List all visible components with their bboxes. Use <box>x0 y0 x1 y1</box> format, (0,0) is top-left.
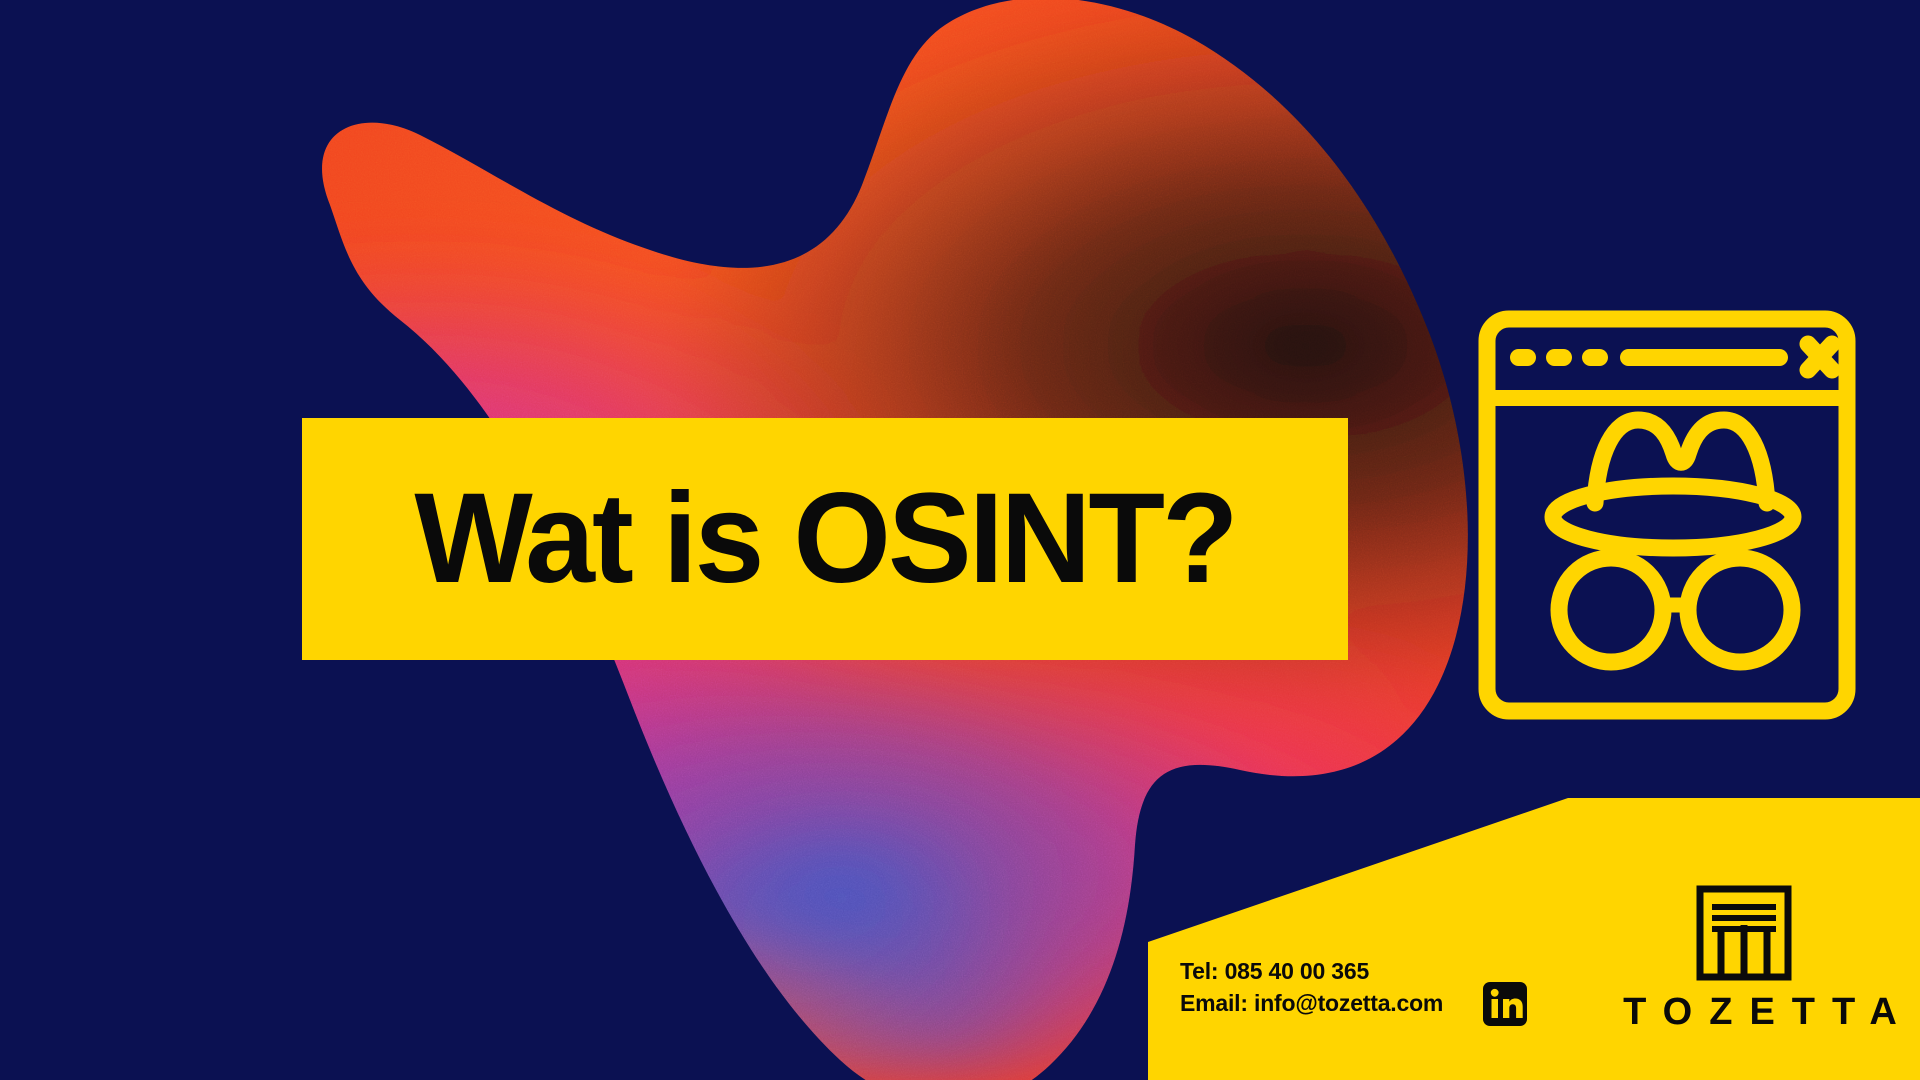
contact-email: Email: info@tozetta.com <box>1180 987 1600 1019</box>
linkedin-i-dot <box>1491 989 1499 997</box>
close-x-icon <box>1808 344 1832 370</box>
contact-tel: Tel: 085 40 00 365 <box>1180 955 1600 987</box>
poster-canvas: Wat is OSINT? <box>0 0 1920 1080</box>
traffic-light-dot <box>1546 349 1572 366</box>
address-bar-pill <box>1620 349 1788 366</box>
traffic-light-dot <box>1510 349 1536 366</box>
glasses-left-lens-icon <box>1559 558 1663 662</box>
tozetta-t-monogram-icon <box>1696 885 1792 981</box>
brand-wordmark: TOZETTA <box>1600 991 1920 1034</box>
linkedin-icon[interactable] <box>1483 982 1527 1026</box>
title-band: Wat is OSINT? <box>302 418 1348 660</box>
linkedin-i-stem <box>1492 999 1499 1018</box>
incognito-browser-window-icon <box>1478 310 1856 720</box>
brand-logo: TOZETTA <box>1600 885 1920 1065</box>
glasses-right-lens-icon <box>1688 558 1792 662</box>
fedora-hat-brim-icon <box>1553 486 1793 548</box>
traffic-light-dot <box>1582 349 1608 366</box>
contact-block: Tel: 085 40 00 365 Email: info@tozetta.c… <box>1180 955 1600 1019</box>
page-title: Wat is OSINT? <box>414 475 1235 603</box>
